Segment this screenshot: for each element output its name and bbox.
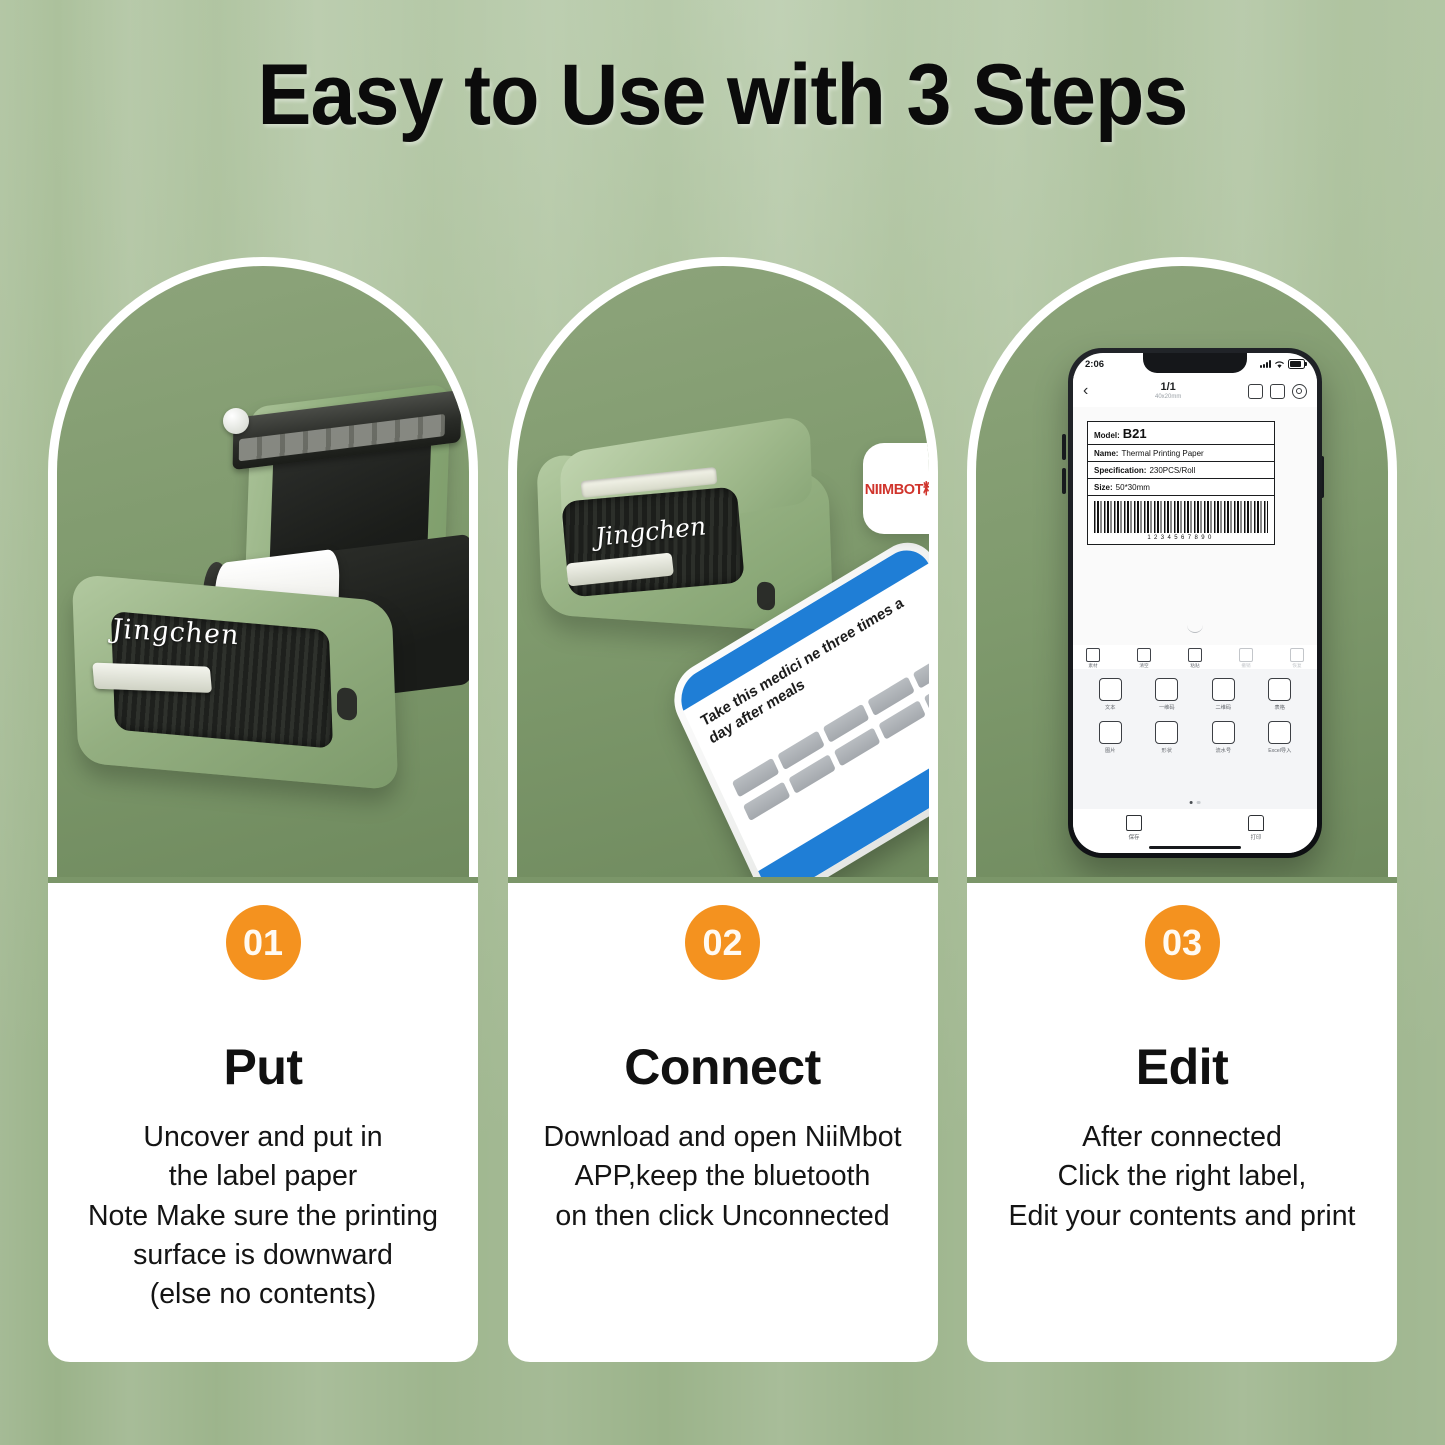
steps-container: Jingchen 01 Put Uncover and put in the l…	[48, 257, 1397, 1362]
canvas-drag-handle[interactable]	[1187, 624, 1203, 633]
tools-top-row: 素材 清空 粘贴	[1073, 645, 1317, 669]
tool-text-label: 文本	[1085, 704, 1136, 711]
step-2-photo: Jingchen Take this medici ne three times…	[517, 266, 929, 883]
step-3-line-2: Click the right label,	[973, 1157, 1391, 1196]
phone-screen: 2:06	[1073, 353, 1317, 853]
step-2-body: Download and open NiiMbot APP,keep the b…	[508, 1118, 938, 1236]
table-icon	[1268, 678, 1291, 701]
redo-icon	[1290, 648, 1304, 662]
label-value-model: B21	[1123, 426, 1147, 441]
print-button[interactable]: 打印	[1248, 815, 1264, 841]
label-canvas[interactable]: Model: B21 Name: Thermal Printing Paper	[1073, 407, 1317, 645]
barcode-icon	[1155, 678, 1178, 701]
label-key-specification: Specification:	[1094, 466, 1146, 475]
page-dot-active	[1190, 801, 1193, 804]
tool-shape-label: 形状	[1142, 747, 1193, 754]
editor-tools-panel: 素材 清空 粘贴	[1073, 645, 1317, 809]
phone-notch	[1143, 353, 1247, 373]
step-1-text-panel: 01 Put Uncover and put in the label pape…	[48, 883, 478, 1362]
tool-image[interactable]: 图片	[1085, 721, 1136, 754]
materials-icon	[1086, 648, 1100, 662]
tool-clear-label: 清空	[1132, 663, 1156, 669]
printer-body: Jingchen	[72, 574, 398, 791]
tool-serial-number-label: 流水号	[1198, 747, 1249, 754]
save-icon	[1126, 815, 1142, 831]
label-value-specification: 230PCS/Roll	[1149, 466, 1195, 475]
label-key-model: Model:	[1094, 431, 1120, 440]
printer-icon	[1248, 815, 1264, 831]
niimbot-app-icon-label: NIIMBOT精臣	[865, 478, 929, 499]
excel-import-icon	[1268, 721, 1291, 744]
home-indicator	[1149, 846, 1241, 849]
label-row-name: Name: Thermal Printing Paper	[1088, 445, 1274, 462]
barcode-digits: 1234567890	[1094, 535, 1268, 541]
page-indicator-group: 1/1 40x20mm	[1155, 382, 1181, 400]
preview-icon[interactable]	[1270, 384, 1285, 399]
toolbar-icons	[1248, 384, 1307, 399]
step-card-2: Jingchen Take this medici ne three times…	[508, 257, 938, 1362]
phone-volume-down-button[interactable]	[1062, 468, 1066, 494]
battery-icon	[1288, 359, 1305, 369]
infographic-page: Easy to Use with 3 Steps	[0, 0, 1445, 1445]
label-value-size: 50*30mm	[1116, 483, 1150, 492]
step-1-body: Uncover and put in the label paper Note …	[48, 1118, 478, 1315]
save-button[interactable]: 保存	[1126, 815, 1142, 841]
tool-redo[interactable]: 恢复	[1285, 648, 1309, 669]
printer-cutter-bar	[92, 663, 212, 693]
tool-image-label: 图片	[1085, 747, 1136, 754]
step-card-3: 2:06	[967, 257, 1397, 1362]
tool-excel-import-label: Excel导入	[1255, 747, 1306, 754]
editor-toolbar: ‹ 1/1 40x20mm	[1073, 375, 1317, 407]
step-3-title: Edit	[967, 1038, 1397, 1096]
page-dots[interactable]	[1190, 801, 1201, 804]
step-2-line-1: Download and open NiiMbot	[514, 1118, 932, 1157]
step-1-number-badge: 01	[226, 905, 301, 980]
tool-undo-label: 撤销	[1234, 663, 1258, 669]
tool-undo[interactable]: 撤销	[1234, 648, 1258, 669]
canvas-size-label: 40x20mm	[1155, 394, 1181, 400]
status-time: 2:06	[1085, 359, 1104, 370]
printer-open-illustration: Jingchen	[75, 396, 469, 776]
paste-icon	[1188, 648, 1202, 662]
status-indicators	[1260, 359, 1305, 369]
step-1-title: Put	[48, 1038, 478, 1096]
tool-materials-label: 素材	[1081, 663, 1105, 669]
tool-paste[interactable]: 粘贴	[1183, 648, 1207, 669]
tool-barcode-label: 一维码	[1142, 704, 1193, 711]
step-3-photo: 2:06	[976, 266, 1388, 883]
page-title: Easy to Use with 3 Steps	[43, 52, 1401, 138]
page-indicator: 1/1	[1155, 382, 1181, 394]
step-1-photo: Jingchen	[57, 266, 469, 883]
label-row-specification: Specification: 230PCS/Roll	[1088, 462, 1274, 479]
tool-barcode[interactable]: 一维码	[1142, 678, 1193, 711]
step-3-number-badge: 03	[1145, 905, 1220, 980]
step-3-line-3: Edit your contents and print	[973, 1197, 1391, 1236]
print-label: 打印	[1248, 833, 1264, 841]
open-printer-scene: Jingchen	[57, 266, 469, 883]
tool-excel-import[interactable]: Excel导入	[1255, 721, 1306, 754]
tool-table[interactable]: 表格	[1255, 678, 1306, 711]
step-2-number-badge: 02	[685, 905, 760, 980]
wifi-icon	[1274, 360, 1285, 369]
tool-serial-number[interactable]: 流水号	[1198, 721, 1249, 754]
tool-paste-label: 粘贴	[1183, 663, 1207, 669]
step-card-1: Jingchen 01 Put Uncover and put in the l…	[48, 257, 478, 1362]
tool-text[interactable]: 文本	[1085, 678, 1136, 711]
phone-standing-illustration: 2:06	[1068, 348, 1322, 858]
step-2-text-panel: 02 Connect Download and open NiiMbot APP…	[508, 883, 938, 1362]
label-row-size: Size: 50*30mm	[1088, 479, 1274, 496]
back-chevron-icon[interactable]: ‹	[1083, 383, 1088, 399]
step-3-image-panel: 2:06	[967, 257, 1397, 883]
phone-volume-up-button[interactable]	[1062, 434, 1066, 460]
tool-materials[interactable]: 素材	[1081, 648, 1105, 669]
tool-shape[interactable]: 形状	[1142, 721, 1193, 754]
undo-icon	[1239, 648, 1253, 662]
printer-phone-scene: Jingchen Take this medici ne three times…	[517, 266, 929, 883]
eraser-icon	[1137, 648, 1151, 662]
page-dot	[1197, 801, 1200, 804]
tool-redo-label: 恢复	[1285, 663, 1309, 669]
step-1-line-5: (else no contents)	[54, 1275, 472, 1314]
scan-icon[interactable]	[1248, 384, 1263, 399]
phone-app-scene: 2:06	[976, 266, 1388, 883]
gear-icon[interactable]	[1292, 384, 1307, 399]
label-key-size: Size:	[1094, 483, 1113, 492]
signal-icon	[1260, 360, 1271, 368]
save-label: 保存	[1126, 833, 1142, 841]
label-preview[interactable]: Model: B21 Name: Thermal Printing Paper	[1087, 421, 1275, 545]
tool-table-label: 表格	[1255, 704, 1306, 711]
label-value-name: Thermal Printing Paper	[1121, 449, 1203, 458]
step-3-text-panel: 03 Edit After connected Click the right …	[967, 883, 1397, 1362]
shape-icon	[1155, 721, 1178, 744]
step-3-body: After connected Click the right label, E…	[967, 1118, 1397, 1236]
step-1-line-2: the label paper	[54, 1157, 472, 1196]
label-barcode: 1234567890	[1088, 496, 1274, 544]
step-1-image-panel: Jingchen	[48, 257, 478, 883]
step-1-line-4: surface is downward	[54, 1236, 472, 1275]
printer-port	[337, 687, 357, 722]
tool-qrcode[interactable]: 二维码	[1198, 678, 1249, 711]
step-3-line-1: After connected	[973, 1118, 1391, 1157]
tool-grid: 文本 一维码 二维码	[1073, 669, 1317, 754]
printer-port	[757, 581, 775, 611]
qrcode-icon	[1212, 678, 1235, 701]
label-key-name: Name:	[1094, 449, 1118, 458]
step-1-line-1: Uncover and put in	[54, 1118, 472, 1157]
text-icon	[1099, 678, 1122, 701]
barcode-bars-icon	[1094, 501, 1268, 533]
roller-knob	[223, 408, 249, 434]
step-1-line-3: Note Make sure the printing	[54, 1197, 472, 1236]
niimbot-app-icon: NIIMBOT精臣	[863, 443, 929, 534]
step-2-line-3: on then click Unconnected	[514, 1197, 932, 1236]
step-2-line-2: APP,keep the bluetooth	[514, 1157, 932, 1196]
tool-qrcode-label: 二维码	[1198, 704, 1249, 711]
label-row-model: Model: B21	[1088, 422, 1274, 445]
tool-clear[interactable]: 清空	[1132, 648, 1156, 669]
step-2-image-panel: Jingchen Take this medici ne three times…	[508, 257, 938, 883]
image-icon	[1099, 721, 1122, 744]
step-2-title: Connect	[508, 1038, 938, 1096]
app-grid-icon	[912, 649, 928, 689]
serial-number-icon	[1212, 721, 1235, 744]
